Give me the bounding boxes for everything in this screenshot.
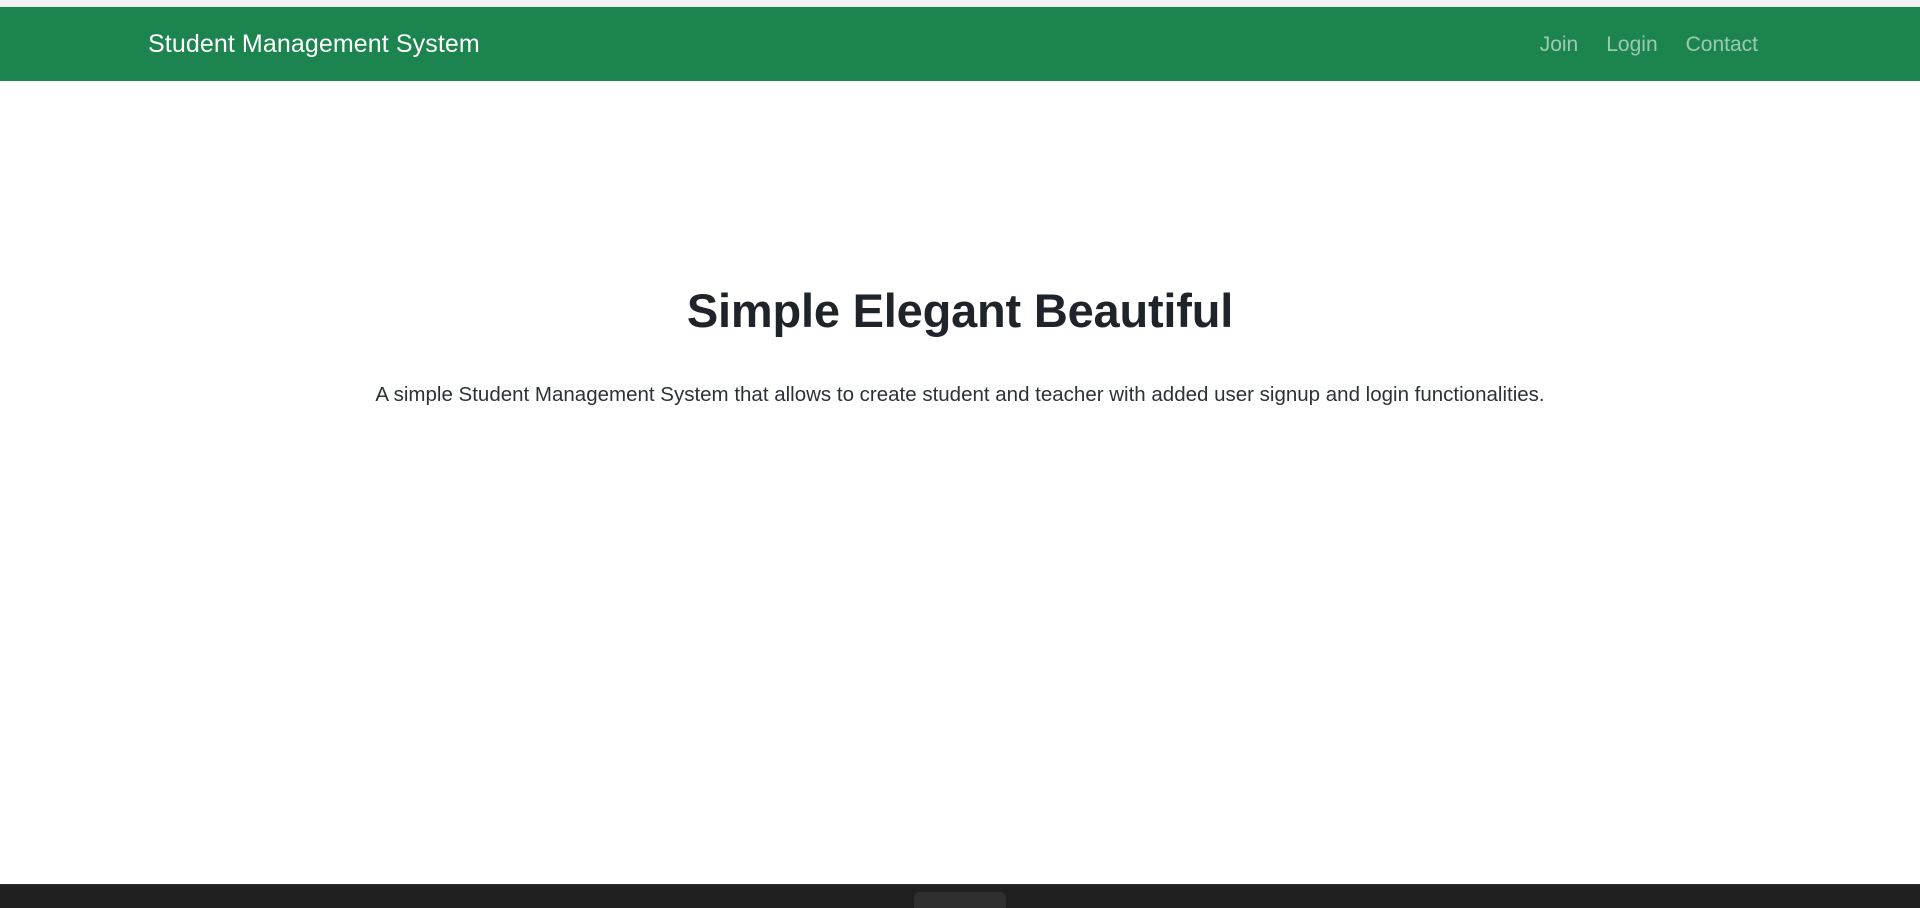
browser-chrome-strip	[0, 0, 1920, 7]
nav-link-join[interactable]: Join	[1526, 26, 1593, 63]
navbar-brand[interactable]: Student Management System	[148, 32, 480, 57]
nav-item-contact[interactable]: Contact	[1672, 26, 1772, 63]
taskbar-active-app-indicator[interactable]	[914, 892, 1006, 908]
os-taskbar[interactable]	[0, 884, 1920, 908]
page-viewport: Student Management System Join Login Con…	[0, 7, 1920, 884]
nav-item-join[interactable]: Join	[1526, 26, 1593, 63]
screen: Student Management System Join Login Con…	[0, 0, 1920, 908]
hero-description: A simple Student Management System that …	[310, 380, 1610, 411]
hero-section: Simple Elegant Beautiful A simple Studen…	[0, 81, 1920, 411]
nav-link-contact[interactable]: Contact	[1672, 26, 1772, 63]
navbar-links: Join Login Contact	[1526, 26, 1772, 63]
nav-link-login[interactable]: Login	[1592, 26, 1671, 63]
page-title: Simple Elegant Beautiful	[0, 284, 1920, 338]
navbar: Student Management System Join Login Con…	[0, 7, 1920, 81]
nav-item-login[interactable]: Login	[1592, 26, 1671, 63]
